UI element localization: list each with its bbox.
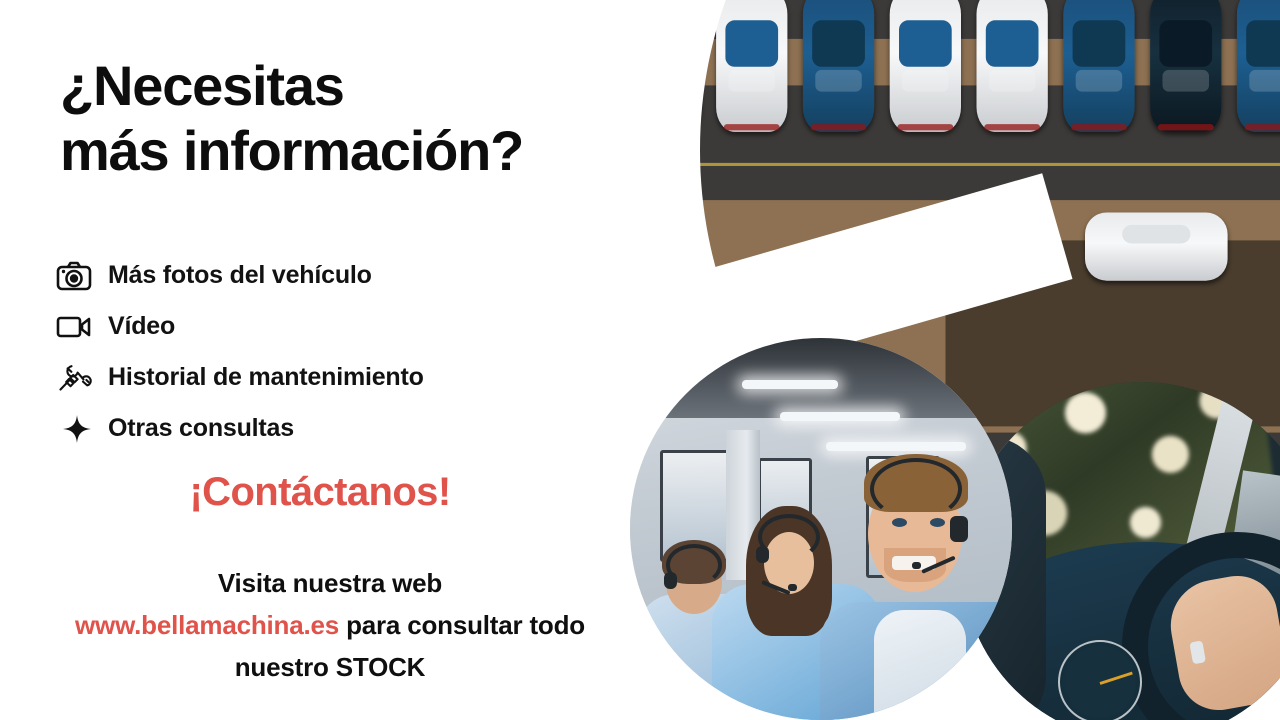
headline-line-2: más información?	[60, 119, 680, 184]
text-column: ¿Necesitas más información? Más fotos de…	[0, 0, 700, 720]
feature-list: Más fotos del vehículo Vídeo	[56, 250, 656, 454]
list-item-label: Historial de mantenimiento	[108, 363, 424, 392]
video-camera-icon	[56, 314, 108, 340]
footer-text: Visita nuestra web www.bellamachina.es p…	[0, 562, 660, 688]
list-item: Vídeo	[56, 301, 656, 352]
contact-cta-label: ¡Contáctanos!	[189, 470, 450, 514]
promo-slide: + + + + + + + + + + +	[0, 0, 1280, 720]
aerial-parking-lot-photo: + + + + + + + + + + +	[700, 0, 1280, 600]
footer-line-3: nuestro STOCK	[0, 646, 660, 688]
list-item: Más fotos del vehículo	[56, 250, 656, 301]
page-title: ¿Necesitas más información?	[60, 54, 680, 184]
headline-line-1: ¿Necesitas	[60, 54, 344, 117]
list-item-label: Más fotos del vehículo	[108, 261, 372, 290]
list-item-label: Otras consultas	[108, 414, 294, 443]
camera-icon	[56, 261, 108, 291]
list-item: Historial de mantenimiento	[56, 352, 656, 403]
footer-line-1: Visita nuestra web	[0, 562, 660, 604]
list-item: Otras consultas	[56, 403, 656, 454]
sparkle-icon	[56, 414, 108, 444]
contact-cta[interactable]: ¡Contáctanos!	[0, 470, 640, 515]
list-item-label: Vídeo	[108, 312, 175, 341]
driving-interior-photo	[962, 382, 1280, 720]
wrench-tools-icon	[56, 362, 108, 394]
footer-line-2: www.bellamachina.es para consultar todo	[0, 604, 660, 646]
footer-line-2-rest: para consultar todo	[339, 610, 585, 640]
website-url[interactable]: www.bellamachina.es	[75, 610, 339, 640]
